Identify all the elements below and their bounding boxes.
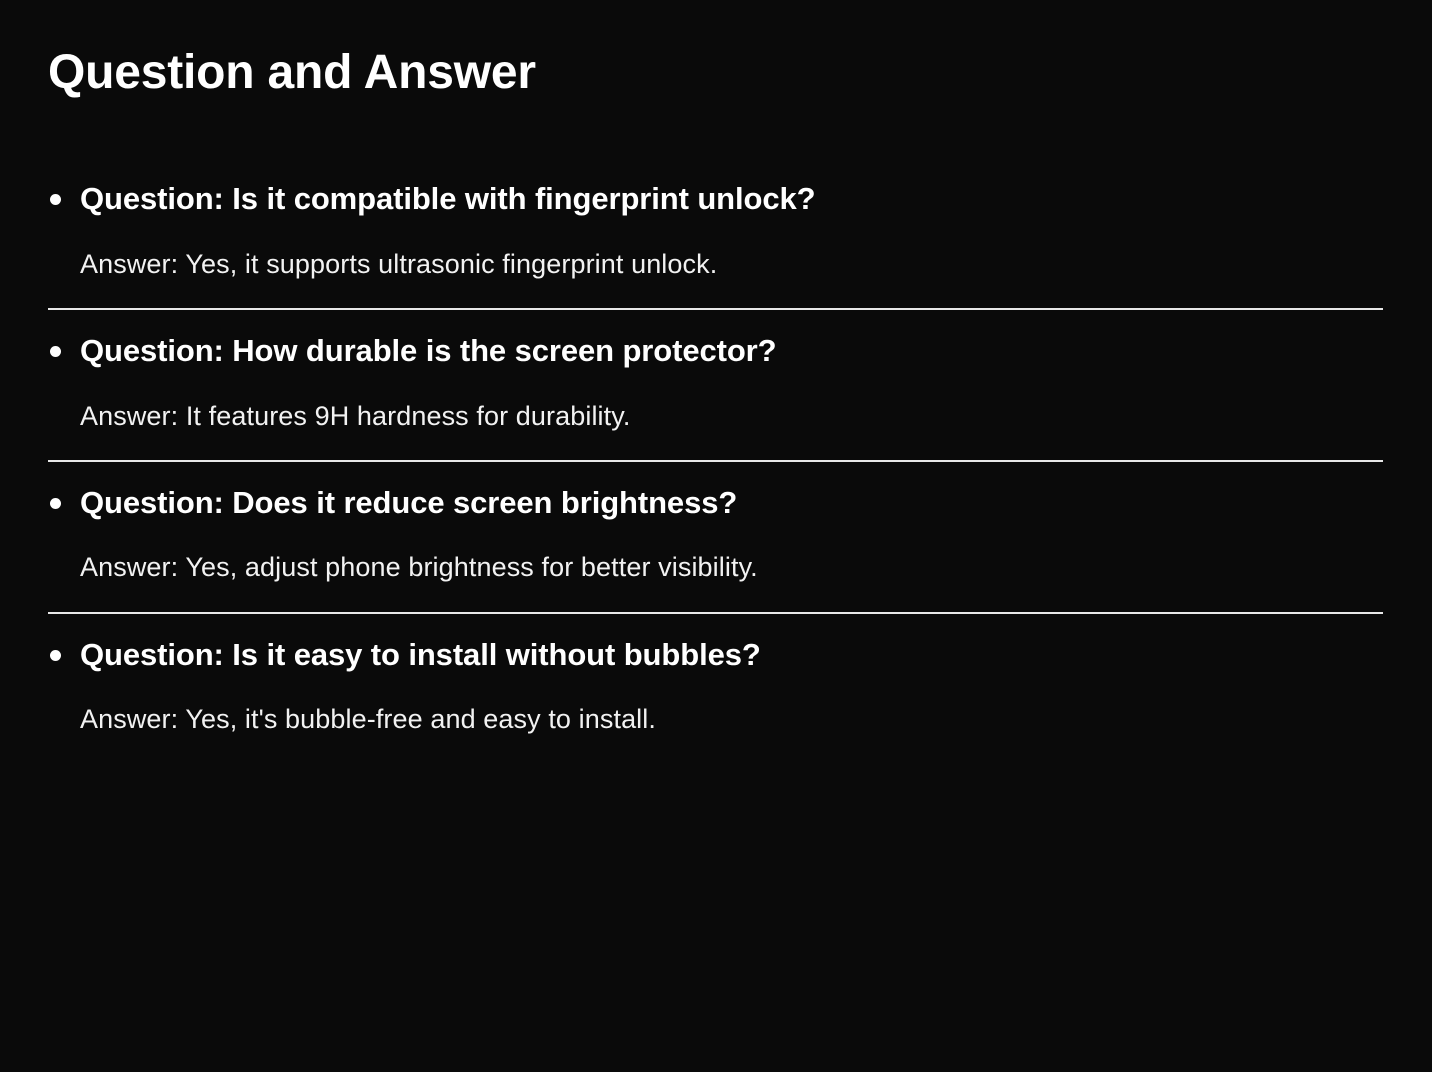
question-row: Question: Is it easy to install without … — [0, 614, 1432, 676]
question-text: Question: Is it compatible with fingerpr… — [80, 181, 815, 216]
qa-item: Question: Is it compatible with fingerpr… — [0, 158, 1432, 310]
qa-item: Question: Is it easy to install without … — [0, 614, 1432, 738]
answer-text: Answer: Yes, it supports ultrasonic fing… — [80, 246, 1432, 282]
question-row: Question: How durable is the screen prot… — [0, 310, 1432, 372]
bullet-dot-icon — [50, 498, 61, 509]
answer-text: Answer: Yes, adjust phone brightness for… — [80, 549, 1432, 585]
question-row: Question: Is it compatible with fingerpr… — [0, 158, 1432, 220]
qa-item: Question: How durable is the screen prot… — [0, 310, 1432, 462]
qa-item: Question: Does it reduce screen brightne… — [0, 462, 1432, 614]
question-text: Question: How durable is the screen prot… — [80, 333, 776, 368]
question-row: Question: Does it reduce screen brightne… — [0, 462, 1432, 524]
question-text: Question: Does it reduce screen brightne… — [80, 485, 737, 520]
bullet-dot-icon — [50, 346, 61, 357]
qa-page: Question and Answer Question: Is it comp… — [0, 0, 1432, 1072]
bullet-dot-icon — [50, 194, 61, 205]
page-title: Question and Answer — [48, 46, 536, 100]
answer-text: Answer: Yes, it's bubble-free and easy t… — [80, 701, 1432, 737]
qa-list: Question: Is it compatible with fingerpr… — [0, 158, 1432, 738]
question-text: Question: Is it easy to install without … — [80, 637, 761, 672]
answer-text: Answer: It features 9H hardness for dura… — [80, 398, 1432, 434]
bullet-dot-icon — [50, 650, 61, 661]
